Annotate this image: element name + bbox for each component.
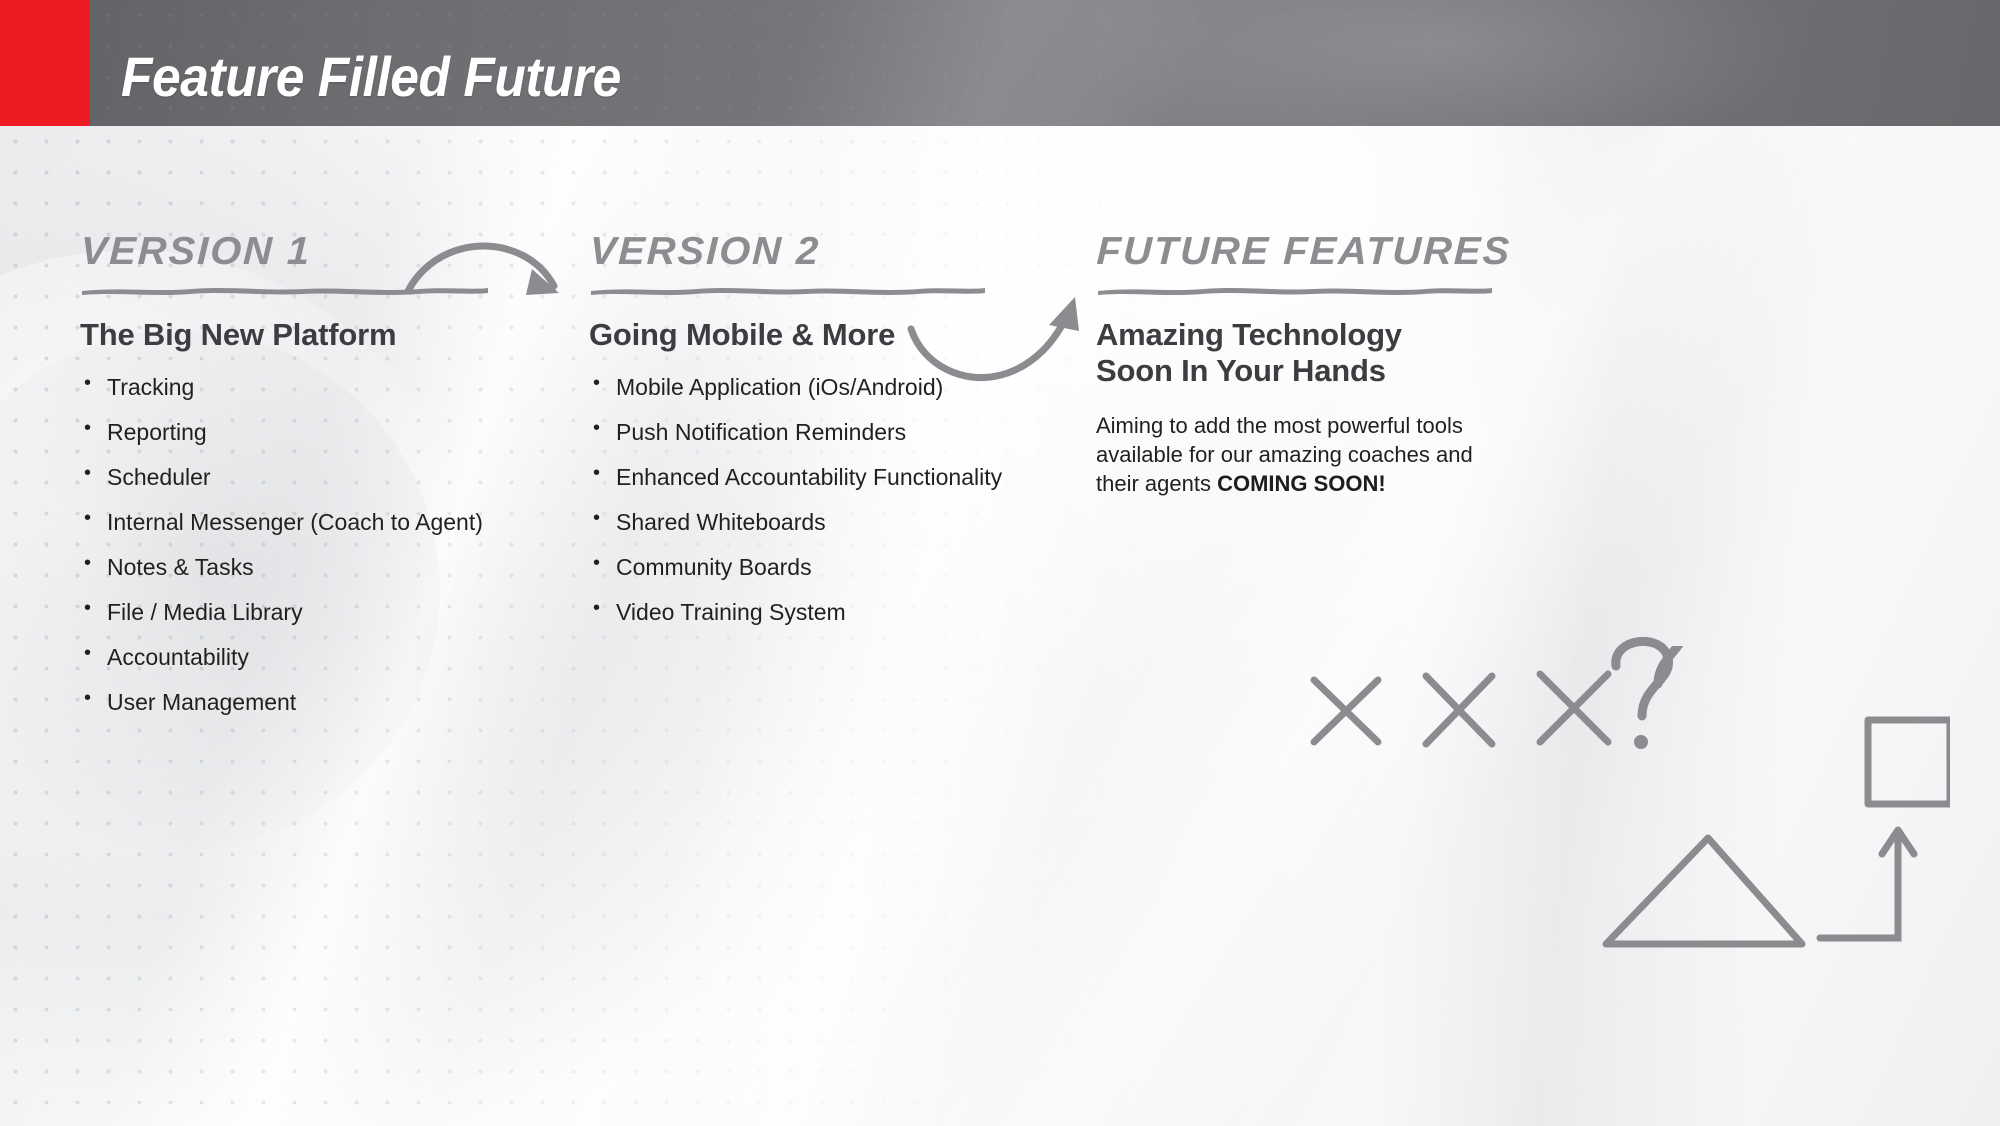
list-item: Video Training System	[589, 595, 1009, 629]
triangle-icon	[1606, 838, 1802, 944]
column-3-rule	[1096, 283, 1516, 295]
curved-arrow-right-icon	[404, 229, 589, 324]
list-item: Scheduler	[80, 460, 520, 494]
question-mark-icon	[1600, 630, 1680, 760]
column-1-feature-list: Tracking Reporting Scheduler Internal Me…	[80, 370, 520, 719]
elbow-arrow-up-icon	[1820, 830, 1914, 938]
column-future-features: FUTURE FEATURES Amazing Technology Soon …	[1096, 232, 1516, 498]
column-3-heading: Amazing Technology Soon In Your Hands	[1096, 317, 1516, 390]
list-item: Shared Whiteboards	[589, 505, 1009, 539]
column-3-body-emphasis: COMING SOON!	[1217, 471, 1386, 496]
slide-root: Feature Filled Future VERSION 1 The Big …	[0, 0, 2000, 1126]
list-item: Reporting	[80, 415, 520, 449]
list-item: Internal Messenger (Coach to Agent)	[80, 505, 520, 539]
column-3-body: Aiming to add the most powerful tools av…	[1096, 411, 1516, 499]
column-3-heading-line-1: Amazing Technology	[1096, 317, 1402, 352]
list-item: Community Boards	[589, 550, 1009, 584]
curved-arrow-up-right-icon	[905, 281, 1105, 406]
header-accent-block	[0, 0, 90, 126]
column-2-kicker: VERSION 2	[589, 232, 1019, 271]
column-2-feature-list: Mobile Application (iOs/Android) Push No…	[589, 370, 1009, 629]
list-item: File / Media Library	[80, 595, 520, 629]
column-3-heading-line-2: Soon In Your Hands	[1096, 353, 1386, 388]
list-item: Enhanced Accountability Functionality	[589, 460, 1009, 494]
list-item: Push Notification Reminders	[589, 415, 1009, 449]
slide-header: Feature Filled Future	[0, 0, 2000, 126]
column-3-kicker: FUTURE FEATURES	[1096, 232, 1526, 271]
x-mark-icon	[1426, 676, 1492, 744]
x-mark-icon	[1540, 674, 1608, 742]
list-item: Notes & Tasks	[80, 550, 520, 584]
list-item: Accountability	[80, 640, 520, 674]
square-icon	[1868, 720, 1950, 804]
list-item: User Management	[80, 685, 520, 719]
page-title: Feature Filled Future	[121, 44, 621, 109]
x-mark-icon	[1314, 680, 1378, 742]
list-item: Tracking	[80, 370, 520, 404]
